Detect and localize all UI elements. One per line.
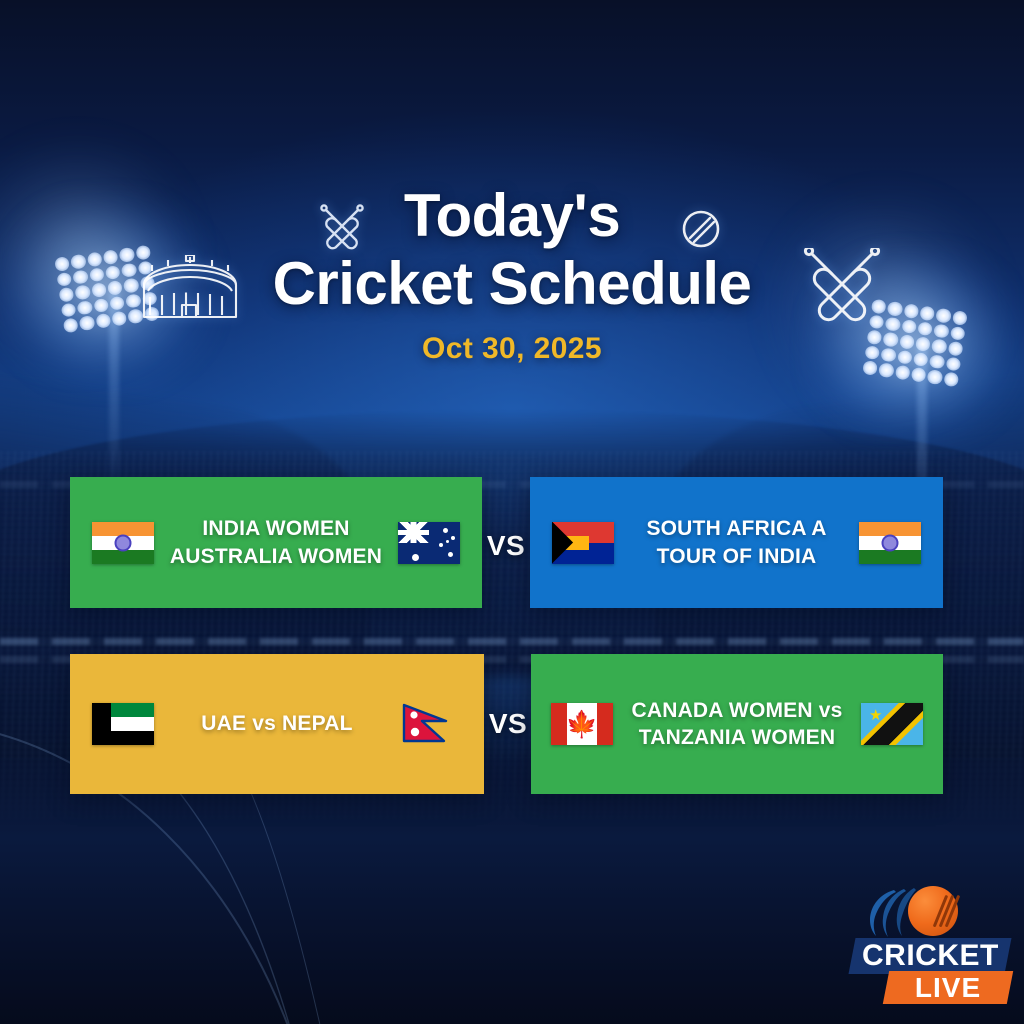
match-team-line-2: AUSTRALIA WOMEN	[160, 543, 392, 570]
nepal-flag	[400, 703, 462, 745]
logo-word-live: LIVE	[883, 971, 1013, 1004]
tanzania-flag: ★	[861, 703, 923, 745]
match-card-grid: INDIA WOMEN AUSTRALIA WOMEN VS SOUTH AFR…	[0, 0, 1024, 1024]
match-team-line-1: INDIA WOMEN	[160, 515, 392, 542]
india-flag	[92, 522, 154, 564]
canada-flag: 🍁	[551, 703, 613, 745]
match-card[interactable]: 🍁 CANADA WOMEN vs TANZANIA WOMEN ★	[531, 654, 943, 794]
match-teams: SOUTH AFRICA A TOUR OF INDIA	[614, 515, 859, 570]
logo-word-cricket: CRICKET	[849, 938, 1012, 974]
australia-flag	[398, 522, 460, 564]
vs-separator: VS	[482, 530, 530, 562]
uae-flag	[92, 703, 154, 745]
match-team-line-1: UAE vs NEPAL	[160, 710, 394, 737]
cricket-ball-icon	[908, 886, 958, 936]
match-team-line-2: TOUR OF INDIA	[620, 543, 853, 570]
nepal-flag-shape	[400, 703, 462, 745]
star-icon: ★	[869, 708, 882, 723]
match-teams: INDIA WOMEN AUSTRALIA WOMEN	[154, 515, 398, 570]
match-team-line-2: TANZANIA WOMEN	[619, 724, 855, 751]
logo-cricket-text: CRICKET	[862, 939, 999, 973]
match-teams: CANADA WOMEN vs TANZANIA WOMEN	[613, 697, 861, 752]
match-team-line-1: SOUTH AFRICA A	[620, 515, 853, 542]
match-teams: UAE vs NEPAL	[154, 710, 400, 737]
brand-logo[interactable]: CRICKET LIVE	[846, 886, 1014, 1006]
india-flag	[859, 522, 921, 564]
vs-separator: VS	[484, 708, 532, 740]
match-card[interactable]: SOUTH AFRICA A TOUR OF INDIA	[530, 477, 943, 608]
maple-leaf-icon: 🍁	[566, 711, 598, 737]
match-card[interactable]: INDIA WOMEN AUSTRALIA WOMEN	[70, 477, 482, 608]
match-team-line-1: CANADA WOMEN vs	[619, 697, 855, 724]
match-card[interactable]: UAE vs NEPAL	[70, 654, 484, 794]
south-africa-flag	[552, 522, 614, 564]
logo-live-text: LIVE	[915, 972, 981, 1004]
